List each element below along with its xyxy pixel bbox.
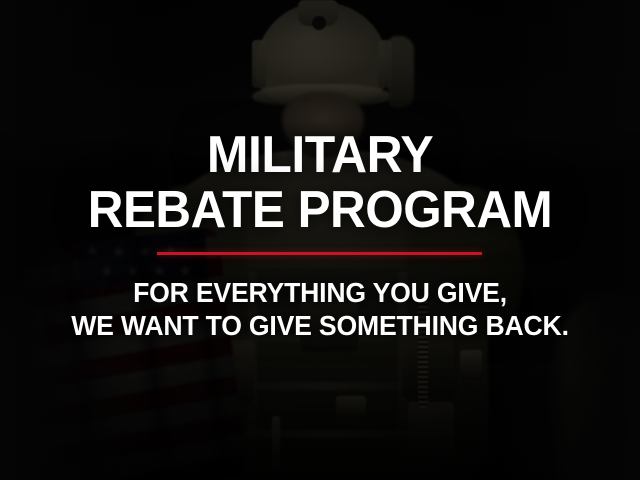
text-overlay: MILITARY REBATE PROGRAM FOR EVERYTHING Y… [0,0,640,480]
subheadline-line-2: WE WANT TO GIVE SOMETHING BACK. [16,310,624,342]
military-rebate-banner: ★ ★ ★ ★ ★ ★ ★ ★ MILITARY REBATE PROGRAM … [0,0,640,480]
headline-line-2: REBATE PROGRAM [16,186,624,236]
red-rule-divider [157,252,482,255]
subheadline-line-1: FOR EVERYTHING YOU GIVE, [16,277,624,309]
headline-line-1: MILITARY [13,131,627,181]
